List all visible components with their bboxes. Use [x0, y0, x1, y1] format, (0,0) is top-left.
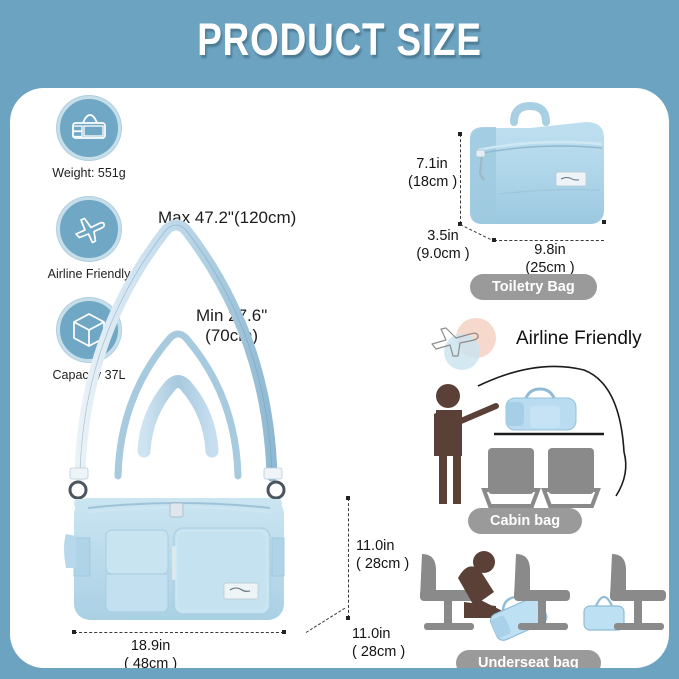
height-dimension-line [348, 498, 349, 618]
page-title: PRODUCT SIZE [61, 16, 618, 63]
depth-inches: 11.0in [352, 626, 390, 642]
dimension-dot [282, 630, 286, 634]
infographic-root: PRODUCT SIZE Weight: 551g [0, 0, 679, 679]
airline-friendly-section: Airline Friendly [408, 310, 660, 660]
underseat-bag-pill-label: Underseat bag [456, 650, 601, 668]
main-bag-height-label: 11.0in ( 28cm ) [356, 538, 409, 573]
height-cm: ( 28cm ) [356, 556, 409, 572]
toiletry-width-inches: 9.8in [534, 242, 565, 258]
width-inches: 18.9in [131, 638, 171, 654]
toiletry-height-inches: 7.1in [416, 156, 447, 172]
depth-cm: ( 28cm ) [352, 644, 405, 660]
toiletry-depth-label: 3.5in (9.0cm ) [412, 228, 474, 263]
cabin-bag-pill-label: Cabin bag [468, 508, 582, 534]
height-inches: 11.0in [356, 538, 394, 554]
dimension-dot [72, 630, 76, 634]
toiletry-bag-illustration: 7.1in (18cm ) 3.5in (9.0cm ) 9.8in (25cm… [408, 94, 658, 312]
toiletry-width-line [494, 240, 604, 241]
main-bag-width-label: 18.9in ( 48cm ) [124, 638, 177, 668]
toiletry-height-cm: (18cm ) [408, 174, 457, 190]
dimension-dot [346, 496, 350, 500]
dimension-dot [458, 132, 462, 136]
toiletry-height-label: 7.1in (18cm ) [408, 156, 456, 191]
dimension-dot [602, 220, 606, 224]
width-cm: ( 48cm ) [124, 656, 177, 668]
width-dimension-line [74, 632, 284, 633]
toiletry-height-line [460, 134, 461, 224]
content-card: Weight: 551g Airline Friendly [10, 88, 669, 668]
dimension-dot [492, 238, 496, 242]
main-bag-depth-label: 11.0in ( 28cm ) [352, 626, 405, 661]
airline-friendly-title: Airline Friendly [516, 328, 642, 350]
toiletry-width-label: 9.8in (25cm ) [504, 242, 596, 277]
toiletry-depth-cm: (9.0cm ) [416, 246, 469, 262]
toiletry-bag-pill-label: Toiletry Bag [470, 274, 597, 300]
toiletry-depth-inches: 3.5in [427, 228, 458, 244]
main-bag-illustration: Max 47.2"(120cm) Min 27.6" (70cm) [58, 146, 388, 646]
dimension-dot [346, 616, 350, 620]
